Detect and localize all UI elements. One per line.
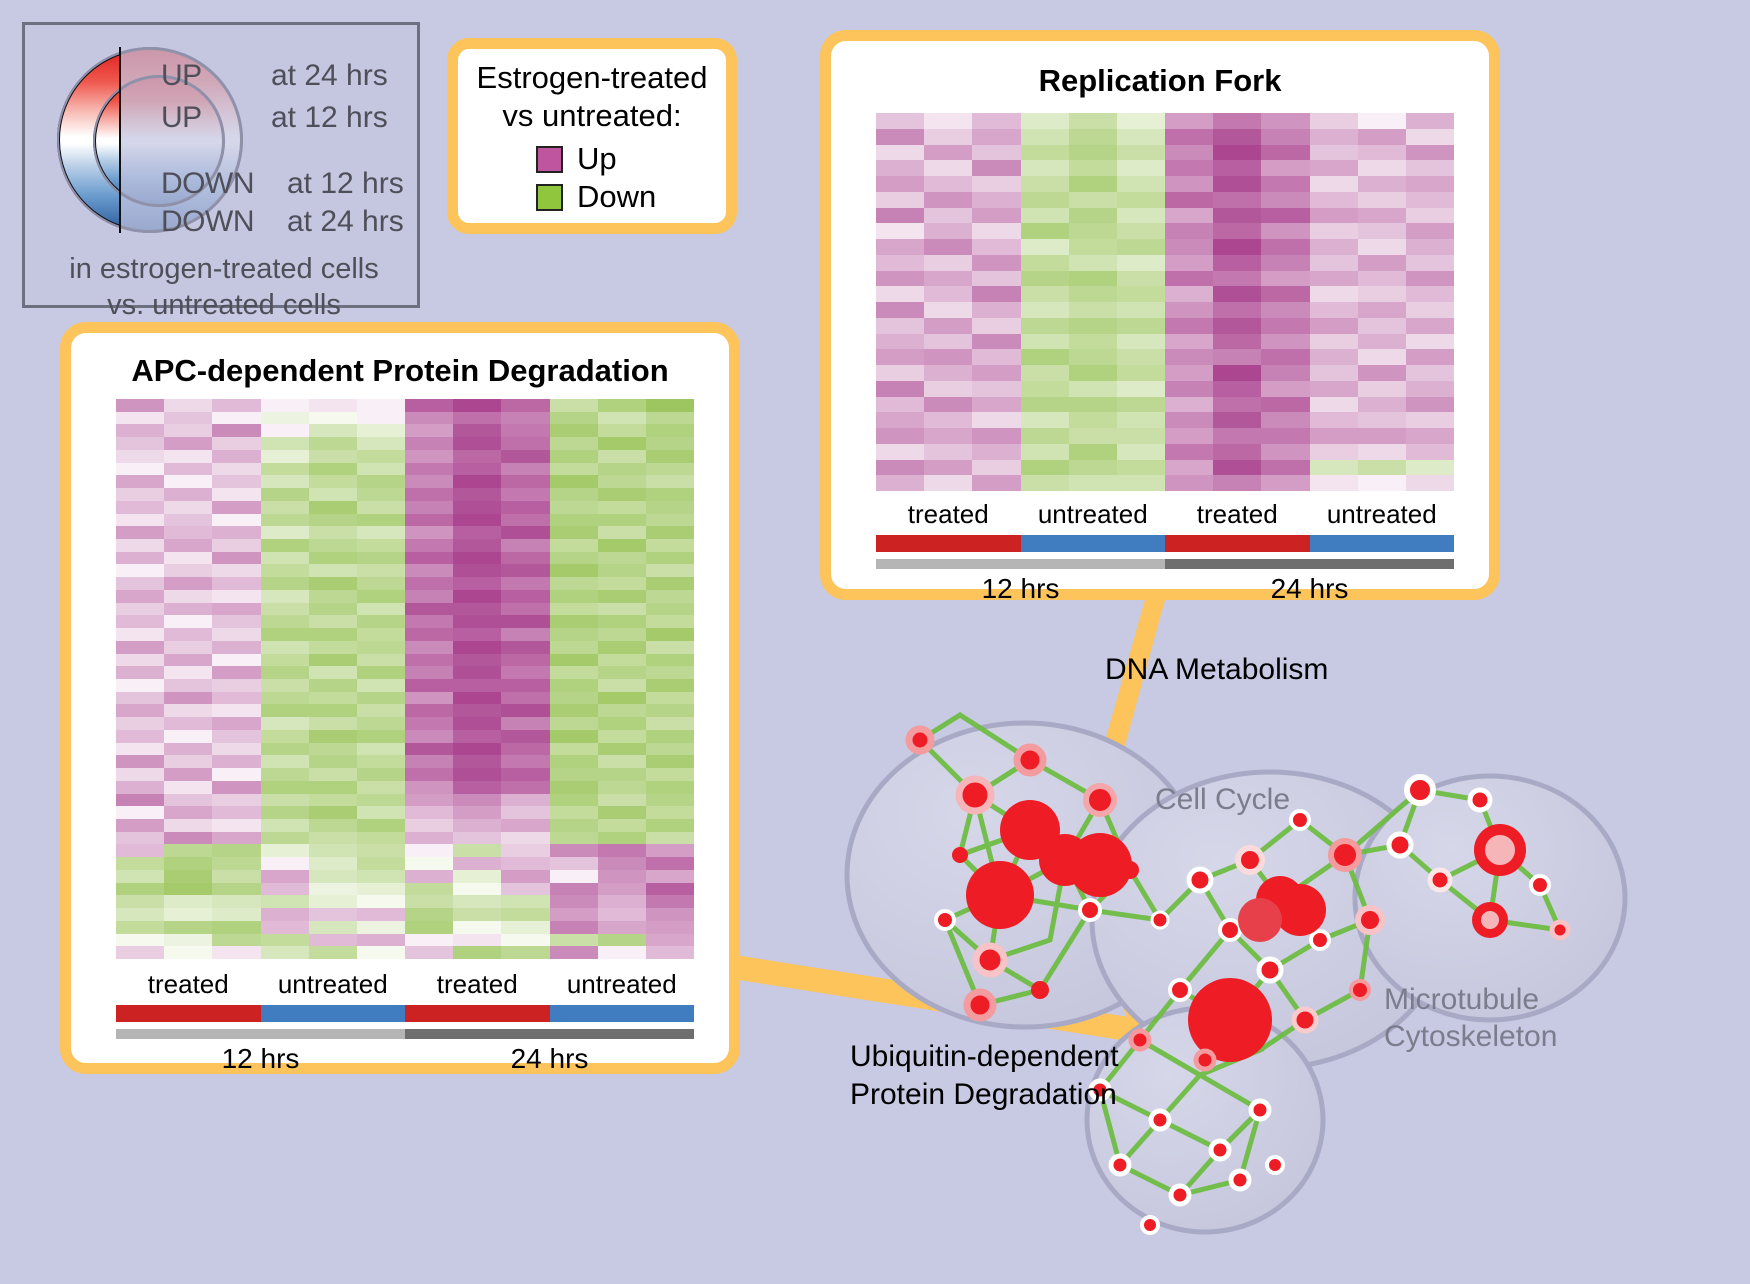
heatmap-cell bbox=[116, 946, 164, 959]
heatmap-cell bbox=[405, 921, 453, 934]
heatmap-cell bbox=[212, 450, 260, 463]
heatmap-cell bbox=[1213, 286, 1261, 302]
heatmap-cell bbox=[357, 577, 405, 590]
heatmap-cell bbox=[972, 428, 1020, 444]
heatmap-cell bbox=[212, 590, 260, 603]
heatmap-cell bbox=[1213, 334, 1261, 350]
heatmap-cell bbox=[116, 743, 164, 756]
heatmap-cell bbox=[309, 615, 357, 628]
heatmap-cell bbox=[972, 160, 1020, 176]
key-time-up-24: at 24 hrs bbox=[271, 59, 388, 93]
heatmap-cell bbox=[1406, 381, 1454, 397]
heatmap-cell bbox=[1310, 365, 1358, 381]
heatmap-cell bbox=[164, 654, 212, 667]
heatmap-cell bbox=[1310, 239, 1358, 255]
heatmap-cell bbox=[309, 641, 357, 654]
heatmap-cell bbox=[1406, 145, 1454, 161]
heatmap-cell bbox=[453, 692, 501, 705]
heatmap-cell bbox=[212, 794, 260, 807]
heatmap-cell bbox=[116, 755, 164, 768]
heatmap-cell bbox=[1021, 460, 1069, 476]
network-label-cell-cycle: Cell Cycle bbox=[1155, 783, 1290, 817]
heatmap-cell bbox=[1165, 286, 1213, 302]
heatmap-cell bbox=[598, 768, 646, 781]
treatment-bar-segment bbox=[876, 535, 1021, 552]
heatmap-cell bbox=[309, 857, 357, 870]
heatmap-cell bbox=[1165, 428, 1213, 444]
heatmap-cell bbox=[212, 730, 260, 743]
heatmap-cell bbox=[501, 475, 549, 488]
heatmap-cell bbox=[405, 743, 453, 756]
heatmap-cell bbox=[164, 603, 212, 616]
heatmap-cell bbox=[550, 552, 598, 565]
heatmap-group-label: untreated bbox=[1021, 499, 1166, 530]
heatmap-cell bbox=[598, 564, 646, 577]
heatmap-cell bbox=[501, 412, 549, 425]
heatmap-cell bbox=[598, 934, 646, 947]
heatmap-cell bbox=[1069, 160, 1117, 176]
heatmap-cell bbox=[1213, 113, 1261, 129]
treatment-bar-segment bbox=[405, 1005, 550, 1022]
heatmap-cell bbox=[876, 460, 924, 476]
heatmap-cell bbox=[309, 526, 357, 539]
heatmap-cell bbox=[164, 514, 212, 527]
heatmap-cell bbox=[453, 704, 501, 717]
expression-key-box: UP at 24 hrs UP at 12 hrs DOWN at 12 hrs… bbox=[22, 22, 420, 308]
heatmap-cell bbox=[1261, 460, 1309, 476]
heatmap-cell bbox=[453, 539, 501, 552]
heatmap-cell bbox=[405, 883, 453, 896]
time-bar-segment bbox=[876, 559, 1165, 569]
heatmap-cell bbox=[1165, 145, 1213, 161]
heatmap-cell bbox=[876, 412, 924, 428]
heatmap-cell bbox=[1213, 271, 1261, 287]
heatmap-cell bbox=[646, 437, 694, 450]
heatmap-cell bbox=[357, 743, 405, 756]
key-caption-line1: in estrogen-treated cells bbox=[25, 251, 423, 287]
heatmap-cell bbox=[1310, 113, 1358, 129]
heatmap-cell bbox=[598, 666, 646, 679]
heatmap-cell bbox=[164, 463, 212, 476]
heatmap-cell bbox=[876, 208, 924, 224]
treatment-bar-segment bbox=[1310, 535, 1455, 552]
heatmap-cell bbox=[924, 334, 972, 350]
heatmap-cell bbox=[1358, 271, 1406, 287]
heatmap-cell bbox=[972, 223, 1020, 239]
heatmap-cell bbox=[550, 666, 598, 679]
heatmap-cell bbox=[876, 160, 924, 176]
heatmap-cell bbox=[357, 806, 405, 819]
heatmap-cell bbox=[1069, 271, 1117, 287]
heatmap-cell bbox=[501, 501, 549, 514]
heatmap-cell bbox=[212, 679, 260, 692]
heatmap-cell bbox=[646, 794, 694, 807]
heatmap-cell bbox=[501, 692, 549, 705]
heatmap-cell bbox=[357, 437, 405, 450]
heatmap-cell bbox=[550, 475, 598, 488]
heatmap-cell bbox=[1261, 208, 1309, 224]
heatmap-cell bbox=[453, 501, 501, 514]
heatmap-group-label: treated bbox=[1165, 499, 1310, 530]
heatmap-cell bbox=[309, 450, 357, 463]
heatmap-cell bbox=[501, 704, 549, 717]
heatmap-cell bbox=[453, 437, 501, 450]
heatmap-cell bbox=[1310, 428, 1358, 444]
heatmap-cell bbox=[1358, 145, 1406, 161]
heatmap-cell bbox=[550, 590, 598, 603]
heatmap-cell bbox=[1165, 176, 1213, 192]
heatmap-cell bbox=[212, 603, 260, 616]
heatmap-cell bbox=[261, 437, 309, 450]
heatmap-cell bbox=[116, 883, 164, 896]
key-time-down-12: at 12 hrs bbox=[287, 167, 404, 201]
heatmap-cell bbox=[1261, 397, 1309, 413]
heatmap-cell bbox=[212, 934, 260, 947]
heatmap-cell bbox=[1261, 239, 1309, 255]
heatmap-cell bbox=[405, 870, 453, 883]
heatmap-cell bbox=[501, 666, 549, 679]
key-vertical-divider bbox=[119, 47, 121, 233]
heatmap-cell bbox=[261, 514, 309, 527]
heatmap-cell bbox=[309, 819, 357, 832]
heatmap-cell bbox=[550, 704, 598, 717]
heatmap-cell bbox=[116, 857, 164, 870]
heatmap-cell bbox=[1117, 397, 1165, 413]
heatmap-cell bbox=[116, 692, 164, 705]
heatmap-cell bbox=[1358, 176, 1406, 192]
heatmap-cell bbox=[309, 908, 357, 921]
heatmap-cell bbox=[116, 539, 164, 552]
heatmap-cell bbox=[309, 730, 357, 743]
heatmap-cell bbox=[646, 603, 694, 616]
heatmap-cell bbox=[357, 552, 405, 565]
heatmap-cell bbox=[405, 424, 453, 437]
heatmap-cell bbox=[357, 654, 405, 667]
heatmap-cell bbox=[261, 704, 309, 717]
heatmap-cell bbox=[116, 794, 164, 807]
function-network-diagram: DNA Metabolism Cell Cycle Microtubule Cy… bbox=[800, 620, 1750, 1279]
heatmap-cell bbox=[924, 271, 972, 287]
heatmap-cell bbox=[261, 564, 309, 577]
heatmap-cell bbox=[1021, 318, 1069, 334]
heatmap-cell bbox=[261, 717, 309, 730]
heatmap-cell bbox=[164, 921, 212, 934]
heatmap-cell bbox=[1165, 444, 1213, 460]
key-time-down-24: at 24 hrs bbox=[287, 205, 404, 239]
heatmap-cell bbox=[1213, 349, 1261, 365]
heatmap-cell bbox=[116, 399, 164, 412]
heatmap-cell bbox=[876, 475, 924, 491]
heatmap-cell bbox=[1310, 397, 1358, 413]
heatmap-cell bbox=[1358, 223, 1406, 239]
heatmap-cell bbox=[309, 424, 357, 437]
heatmap-cell bbox=[1117, 223, 1165, 239]
heatmap-cell bbox=[261, 781, 309, 794]
heatmap-cell bbox=[212, 514, 260, 527]
legend-label-up: Up bbox=[577, 141, 617, 177]
heatmap-cell bbox=[261, 743, 309, 756]
heatmap-cell bbox=[357, 895, 405, 908]
heatmap-cell bbox=[1261, 286, 1309, 302]
heatmap-cell bbox=[501, 857, 549, 870]
heatmap-cell bbox=[1165, 160, 1213, 176]
heatmap-cell bbox=[1310, 318, 1358, 334]
heatmap-cell bbox=[1406, 239, 1454, 255]
heatmap-cell bbox=[1310, 192, 1358, 208]
heatmap-cell bbox=[453, 552, 501, 565]
heatmap-cell bbox=[550, 463, 598, 476]
heatmap-cell bbox=[1117, 334, 1165, 350]
key-time-up-12: at 12 hrs bbox=[271, 101, 388, 135]
heatmap-cell bbox=[1261, 318, 1309, 334]
heatmap-cell bbox=[116, 666, 164, 679]
heatmap-cell bbox=[550, 692, 598, 705]
heatmap-cell bbox=[405, 717, 453, 730]
heatmap-cell bbox=[1117, 145, 1165, 161]
heatmap-cell bbox=[501, 590, 549, 603]
heatmap-cell bbox=[598, 577, 646, 590]
heatmap-cell bbox=[116, 641, 164, 654]
network-label-ubiquitin: Ubiquitin-dependent bbox=[850, 1040, 1119, 1074]
heatmap-cell bbox=[550, 768, 598, 781]
heatmap-cell bbox=[598, 946, 646, 959]
heatmap-cell bbox=[598, 743, 646, 756]
heatmap-cell bbox=[924, 239, 972, 255]
heatmap-cell bbox=[598, 501, 646, 514]
heatmap-cell bbox=[405, 539, 453, 552]
heatmap-cell bbox=[1406, 223, 1454, 239]
heatmap-cell bbox=[405, 781, 453, 794]
heatmap-cell bbox=[924, 255, 972, 271]
heatmap-cell bbox=[164, 577, 212, 590]
heatmap-cell bbox=[164, 666, 212, 679]
heatmap-cell bbox=[405, 946, 453, 959]
heatmap-cell bbox=[1261, 176, 1309, 192]
heatmap-cell bbox=[309, 717, 357, 730]
heatmap-cell bbox=[309, 679, 357, 692]
heatmap-cell bbox=[501, 806, 549, 819]
heatmap-cell bbox=[357, 399, 405, 412]
heatmap-cell bbox=[1406, 160, 1454, 176]
heatmap-cell bbox=[116, 475, 164, 488]
heatmap-cell bbox=[1021, 334, 1069, 350]
heatmap-cell bbox=[261, 857, 309, 870]
heatmap-cell bbox=[1406, 412, 1454, 428]
heatmap-cell bbox=[164, 399, 212, 412]
heatmap-cell bbox=[116, 704, 164, 717]
heatmap-cell bbox=[1310, 460, 1358, 476]
heatmap-cell bbox=[116, 908, 164, 921]
heatmap-cell bbox=[972, 176, 1020, 192]
heatmap-cell bbox=[1310, 145, 1358, 161]
heatmap-cell bbox=[598, 399, 646, 412]
heatmap-cell bbox=[1117, 192, 1165, 208]
heatmap-cell bbox=[309, 628, 357, 641]
heatmap-cell bbox=[1406, 460, 1454, 476]
heatmap-cell bbox=[1117, 129, 1165, 145]
heatmap-cell bbox=[550, 743, 598, 756]
heatmap-cell bbox=[501, 539, 549, 552]
key-caption-line2: vs. untreated cells bbox=[25, 287, 423, 323]
heatmap-cell bbox=[1406, 129, 1454, 145]
heatmap-cell bbox=[164, 794, 212, 807]
heatmap-cell bbox=[550, 603, 598, 616]
heatmap-cell bbox=[1213, 365, 1261, 381]
heatmap-cell bbox=[164, 539, 212, 552]
heatmap-cell bbox=[453, 870, 501, 883]
heatmap-cell bbox=[453, 615, 501, 628]
heatmap-cell bbox=[646, 781, 694, 794]
heatmap-cell bbox=[1069, 475, 1117, 491]
heatmap-cell bbox=[924, 444, 972, 460]
heatmap-cell bbox=[1213, 302, 1261, 318]
heatmap-cell bbox=[405, 628, 453, 641]
heatmap-cell bbox=[1165, 397, 1213, 413]
heatmap-cell bbox=[1213, 223, 1261, 239]
heatmap-cell bbox=[1021, 192, 1069, 208]
heatmap-cell bbox=[1165, 412, 1213, 428]
heatmap-cell bbox=[598, 717, 646, 730]
heatmap-cell bbox=[1406, 397, 1454, 413]
heatmap-cell bbox=[261, 946, 309, 959]
heatmap-cell bbox=[453, 577, 501, 590]
heatmap-cell bbox=[598, 806, 646, 819]
heatmap-cell bbox=[1213, 318, 1261, 334]
heatmap-cell bbox=[1069, 412, 1117, 428]
heatmap-cell bbox=[501, 526, 549, 539]
heatmap-cell bbox=[1358, 318, 1406, 334]
heatmap-cell bbox=[1310, 349, 1358, 365]
heatmap-cell bbox=[876, 381, 924, 397]
heatmap-group-label: untreated bbox=[550, 969, 695, 1000]
heatmap-cell bbox=[876, 286, 924, 302]
heatmap-cell bbox=[550, 526, 598, 539]
heatmap-cell bbox=[501, 628, 549, 641]
heatmap-cell bbox=[453, 590, 501, 603]
heatmap-cell bbox=[309, 704, 357, 717]
heatmap-cell bbox=[405, 934, 453, 947]
heatmap-cell bbox=[164, 717, 212, 730]
heatmap-cell bbox=[1358, 412, 1406, 428]
heatmap-cell bbox=[453, 475, 501, 488]
heatmap-cell bbox=[1117, 381, 1165, 397]
updown-legend-box: Estrogen-treated vs untreated: Up Down bbox=[447, 38, 737, 234]
heatmap-cell bbox=[1213, 129, 1261, 145]
heatmap-cell bbox=[357, 768, 405, 781]
heatmap-cell bbox=[309, 514, 357, 527]
heatmap-cell bbox=[1213, 460, 1261, 476]
heatmap-cell bbox=[309, 590, 357, 603]
heatmap-cell bbox=[309, 692, 357, 705]
heatmap-cell bbox=[972, 192, 1020, 208]
heatmap-cell bbox=[646, 870, 694, 883]
heatmap-cell bbox=[1213, 192, 1261, 208]
heatmap-cell bbox=[405, 819, 453, 832]
heatmap-cell bbox=[405, 806, 453, 819]
heatmap-cell bbox=[212, 628, 260, 641]
heatmap-cell bbox=[1310, 444, 1358, 460]
heatmap-cell bbox=[1213, 428, 1261, 444]
heatmap-cell bbox=[212, 577, 260, 590]
heatmap-cell bbox=[357, 564, 405, 577]
heatmap-cell bbox=[164, 819, 212, 832]
heatmap-cell bbox=[116, 832, 164, 845]
heatmap-cell bbox=[501, 832, 549, 845]
heatmap-cell bbox=[164, 857, 212, 870]
heatmap-cell bbox=[116, 615, 164, 628]
heatmap-cell bbox=[1358, 129, 1406, 145]
heatmap-cell bbox=[1310, 475, 1358, 491]
heatmap-cell bbox=[212, 412, 260, 425]
heatmap-cell bbox=[261, 412, 309, 425]
heatmap-cell bbox=[550, 399, 598, 412]
heatmap-cell bbox=[876, 113, 924, 129]
heatmap-cell bbox=[453, 717, 501, 730]
heatmap-cell bbox=[164, 730, 212, 743]
heatmap-cell bbox=[357, 539, 405, 552]
heatmap-cell bbox=[1261, 412, 1309, 428]
heatmap-cell bbox=[924, 176, 972, 192]
heatmap-cell bbox=[357, 641, 405, 654]
heatmap-cell bbox=[453, 641, 501, 654]
heatmap-cell bbox=[212, 654, 260, 667]
heatmap-cell bbox=[261, 895, 309, 908]
heatmap-cell bbox=[116, 819, 164, 832]
treatment-bar-segment bbox=[1165, 535, 1310, 552]
heatmap-cell bbox=[212, 895, 260, 908]
heatmap-cell bbox=[550, 679, 598, 692]
heatmap-cell bbox=[405, 526, 453, 539]
heatmap-cell bbox=[357, 692, 405, 705]
heatmap-cell bbox=[164, 526, 212, 539]
heatmap-cell bbox=[212, 539, 260, 552]
heatmap-cell bbox=[405, 475, 453, 488]
heatmap-cell bbox=[598, 679, 646, 692]
heatmap-cell bbox=[164, 692, 212, 705]
heatmap-cell bbox=[972, 302, 1020, 318]
heatmap-cell bbox=[116, 730, 164, 743]
heatmap-cell bbox=[1069, 239, 1117, 255]
heatmap-cell bbox=[1406, 318, 1454, 334]
heatmap-cell bbox=[924, 381, 972, 397]
heatmap-cell bbox=[646, 539, 694, 552]
heatmap-cell bbox=[453, 794, 501, 807]
heatmap-cell bbox=[1310, 160, 1358, 176]
heatmap-cell bbox=[1261, 129, 1309, 145]
heatmap-group-label: treated bbox=[116, 969, 261, 1000]
heatmap-cell bbox=[1021, 381, 1069, 397]
heatmap-cell bbox=[357, 870, 405, 883]
heatmap-cell bbox=[646, 908, 694, 921]
heatmap-cell bbox=[1310, 271, 1358, 287]
heatmap-time-label: 12 hrs bbox=[876, 573, 1165, 605]
heatmap-cell bbox=[405, 730, 453, 743]
heatmap-cell bbox=[1310, 381, 1358, 397]
heatmap-cell bbox=[309, 488, 357, 501]
heatmap-cell bbox=[357, 615, 405, 628]
heatmap-cell bbox=[261, 755, 309, 768]
heatmap-cell bbox=[1213, 381, 1261, 397]
legend-item-down: Down bbox=[536, 179, 656, 215]
heatmap-cell bbox=[972, 113, 1020, 129]
heatmap-cell bbox=[1165, 255, 1213, 271]
heatmap-cell bbox=[164, 552, 212, 565]
heatmap-cell bbox=[405, 615, 453, 628]
heatmap-cell bbox=[212, 564, 260, 577]
heatmap-cell bbox=[501, 603, 549, 616]
heatmap-cell bbox=[1117, 239, 1165, 255]
heatmap-cell bbox=[453, 424, 501, 437]
